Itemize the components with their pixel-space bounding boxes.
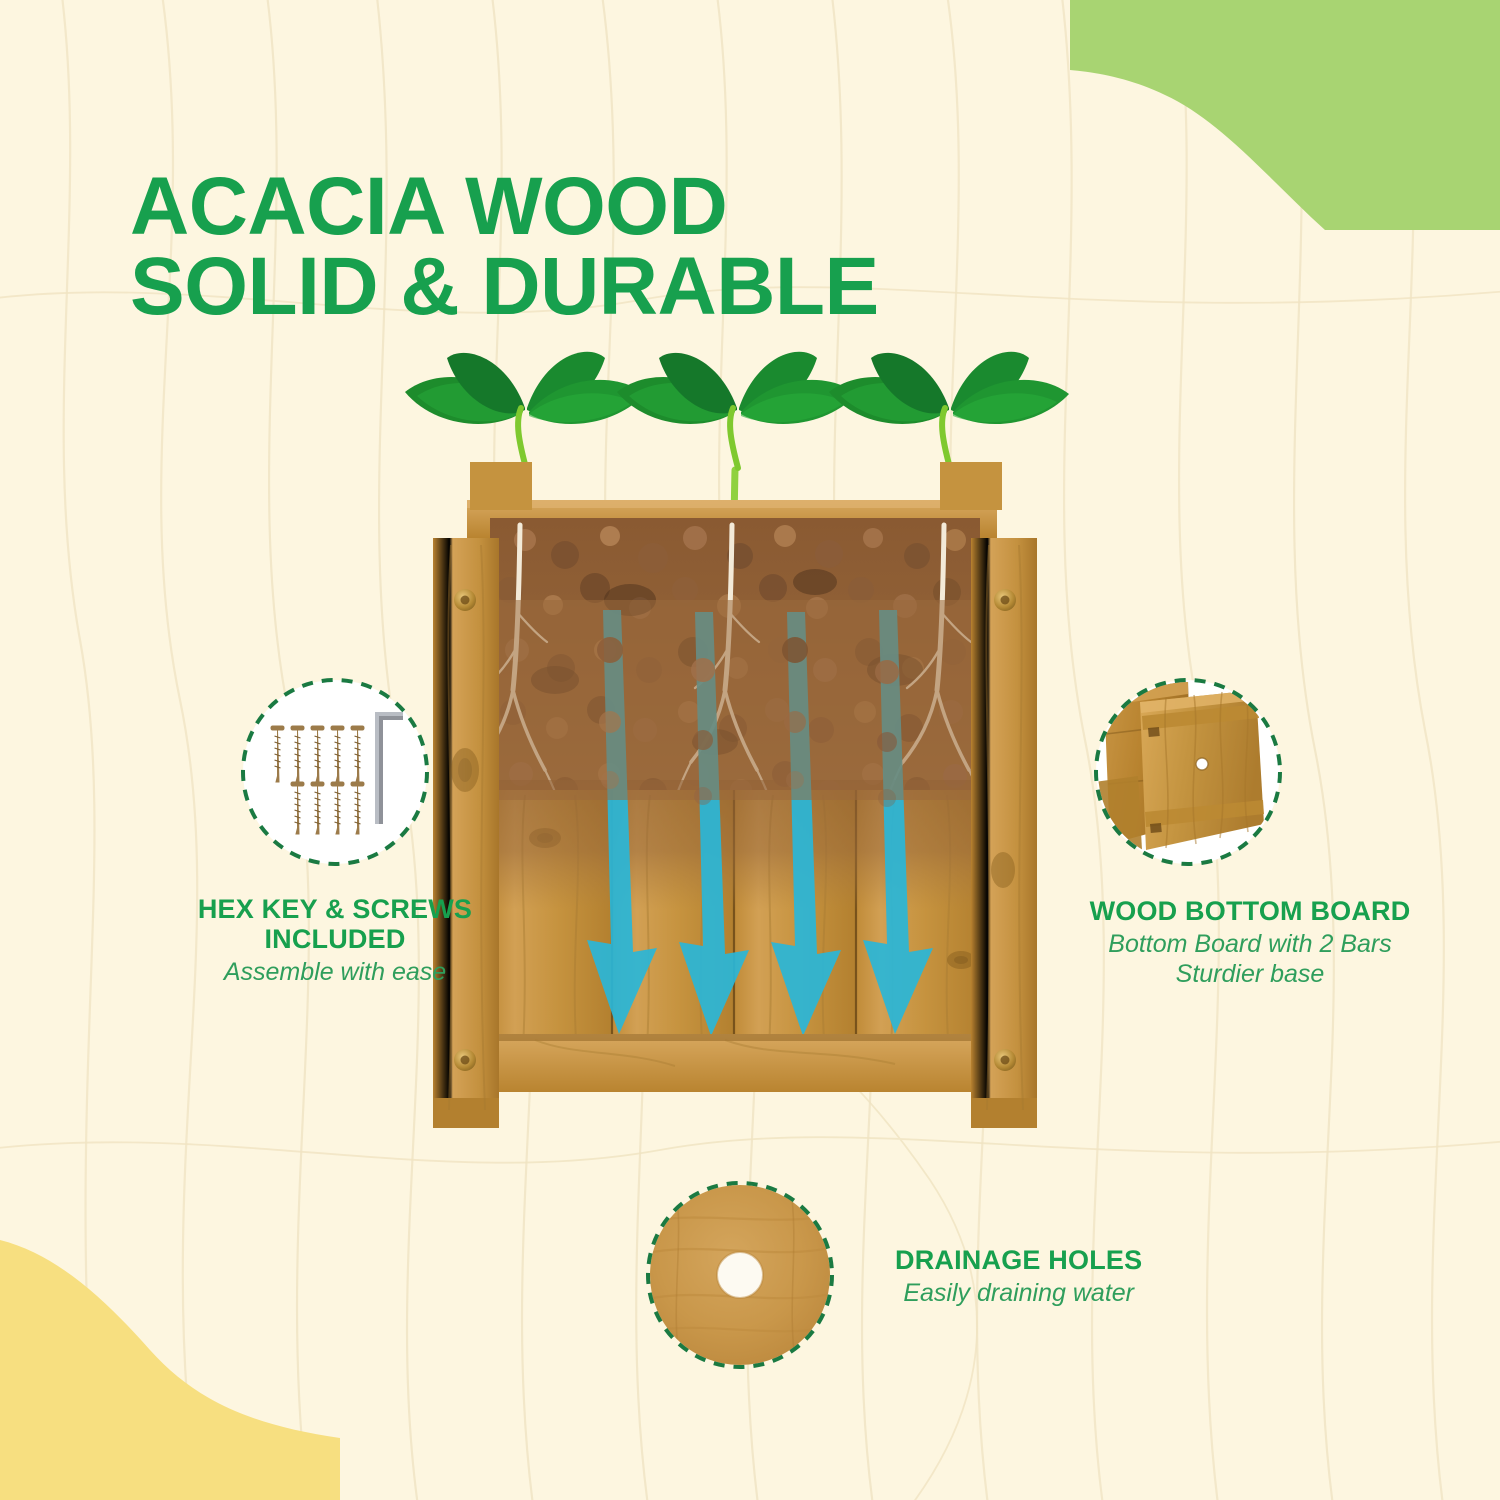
headline-line-2: SOLID & DURABLE (130, 247, 879, 327)
feature-subtitle-hex-key: Assemble with ease (145, 958, 525, 988)
feature-wood-bottom-board: WOOD BOTTOM BOARD Bottom Board with 2 Ba… (1040, 672, 1460, 989)
feature-title-drainage: DRAINAGE HOLES (895, 1245, 1142, 1275)
feature-subtitle-bottom-board: Bottom Board with 2 Bars Sturdier base (1040, 930, 1460, 989)
screws-and-hex-key-icon (235, 672, 435, 872)
feature-title-hex-key: HEX KEY & SCREWS INCLUDED (145, 894, 525, 954)
page-title: ACACIA WOOD SOLID & DURABLE (130, 167, 879, 328)
wood-bottom-board-icon (1088, 672, 1288, 872)
feature-title-bottom-board: WOOD BOTTOM BOARD (1040, 896, 1460, 926)
planter-top-nub-left (470, 462, 532, 510)
feature-subtitle-drainage: Easily draining water (895, 1279, 1142, 1309)
decorative-green-corner-blob (1070, 0, 1500, 230)
headline-line-1: ACACIA WOOD (130, 167, 879, 247)
planter-top-nub-right (940, 462, 1002, 510)
feature-hex-key-screws: HEX KEY & SCREWS INCLUDED Assemble with … (75, 672, 595, 988)
feature-drainage-holes: DRAINAGE HOLES Easily draining water (640, 1175, 1200, 1375)
drainage-hole-disc-icon (640, 1175, 840, 1375)
decorative-yellow-corner-blob (0, 1210, 340, 1500)
